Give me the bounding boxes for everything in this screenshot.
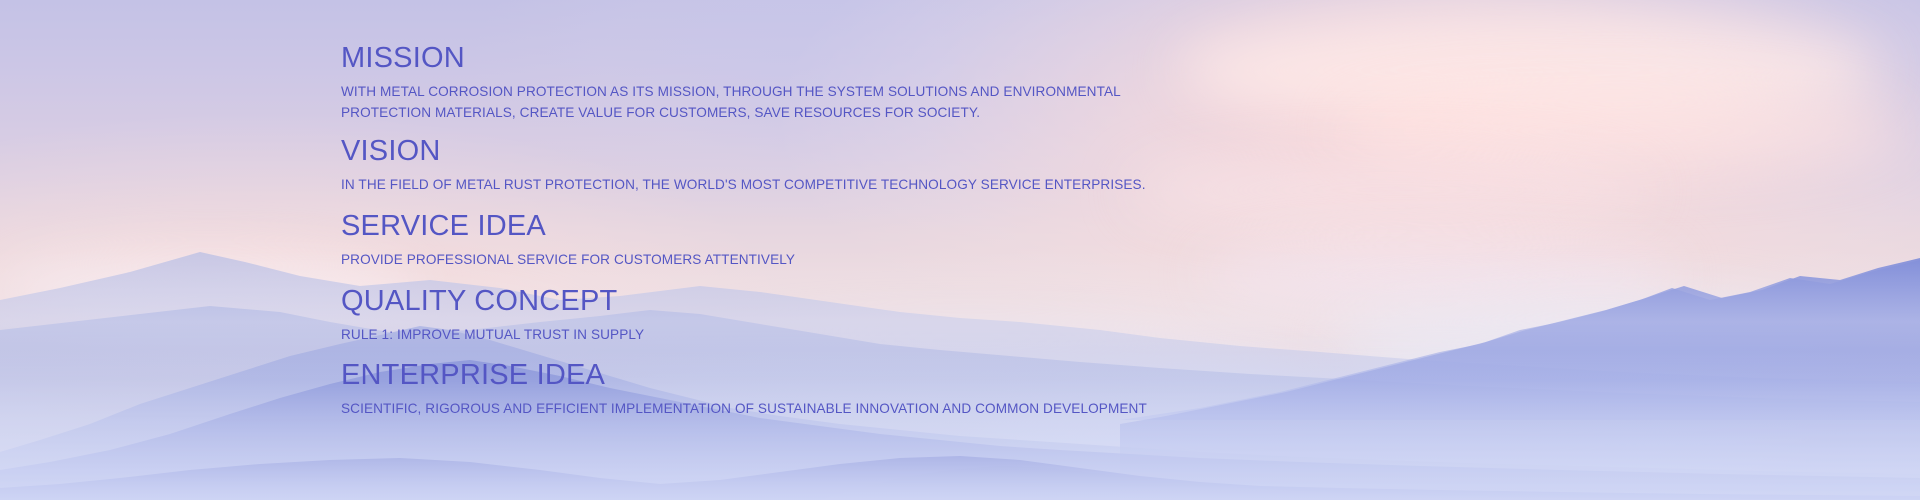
section-quality-concept: QUALITY CONCEPT RULE 1: IMPROVE MUTUAL T… [341,287,1591,346]
culture-text-content: MISSION WITH METAL CORROSION PROTECTION … [341,44,1591,420]
vision-description: IN THE FIELD OF METAL RUST PROTECTION, T… [341,175,1191,196]
enterprise-idea-description: SCIENTIFIC, RIGOROUS AND EFFICIENT IMPLE… [341,399,1191,420]
section-service-idea: SERVICE IDEA PROVIDE PROFESSIONAL SERVIC… [341,212,1591,271]
mission-heading: MISSION [341,44,1591,73]
section-vision: VISION IN THE FIELD OF METAL RUST PROTEC… [341,137,1591,196]
enterprise-idea-heading: ENTERPRISE IDEA [341,361,1591,390]
quality-concept-heading: QUALITY CONCEPT [341,287,1591,316]
vision-heading: VISION [341,137,1591,166]
service-idea-description: PROVIDE PROFESSIONAL SERVICE FOR CUSTOME… [341,250,1191,271]
quality-concept-description: RULE 1: IMPROVE MUTUAL TRUST IN SUPPLY [341,325,1191,346]
section-enterprise-idea: ENTERPRISE IDEA SCIENTIFIC, RIGOROUS AND… [341,361,1591,420]
service-idea-heading: SERVICE IDEA [341,212,1591,241]
section-mission: MISSION WITH METAL CORROSION PROTECTION … [341,44,1591,123]
corporate-culture-banner: MISSION WITH METAL CORROSION PROTECTION … [0,0,1920,500]
mission-description: WITH METAL CORROSION PROTECTION AS ITS M… [341,82,1189,123]
